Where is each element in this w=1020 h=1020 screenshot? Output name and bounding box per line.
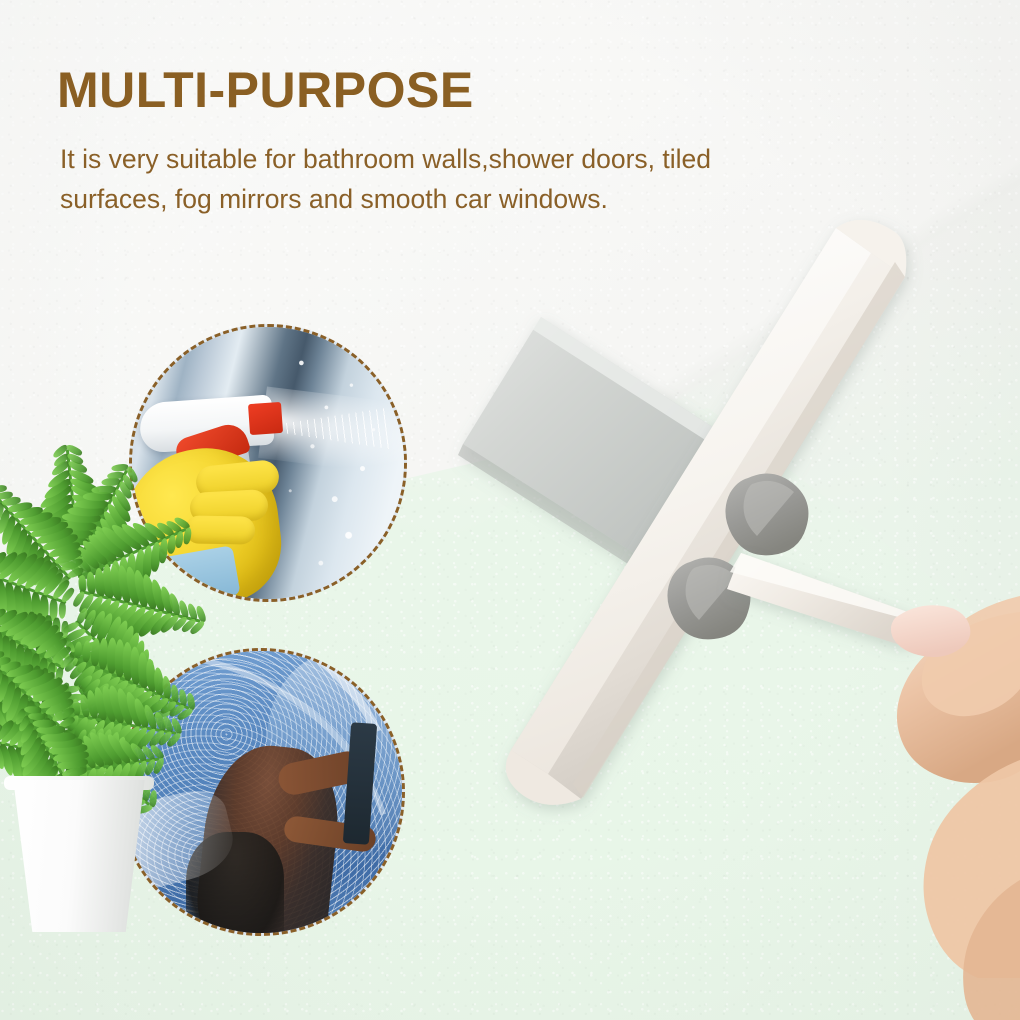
- description-line-1: It is very suitable for bathroom walls,s…: [60, 144, 711, 174]
- text-block: MULTI-PURPOSE It is very suitable for ba…: [57, 64, 867, 220]
- frond-leaflet: [58, 602, 66, 619]
- frond-leaflet: [74, 641, 83, 658]
- spray-bottle-nozzle: [248, 402, 283, 435]
- page-title: MULTI-PURPOSE: [57, 64, 867, 117]
- description-line-2: surfaces, fog mirrors and smooth car win…: [60, 184, 608, 214]
- frond-leaflet: [79, 575, 87, 592]
- frond-leaflet: [32, 719, 54, 727]
- product-banner: MULTI-PURPOSE It is very suitable for ba…: [0, 0, 1020, 1020]
- description-text: It is very suitable for bathroom walls,s…: [60, 139, 850, 220]
- plant-pot: [6, 780, 152, 932]
- potted-plant: [0, 500, 212, 940]
